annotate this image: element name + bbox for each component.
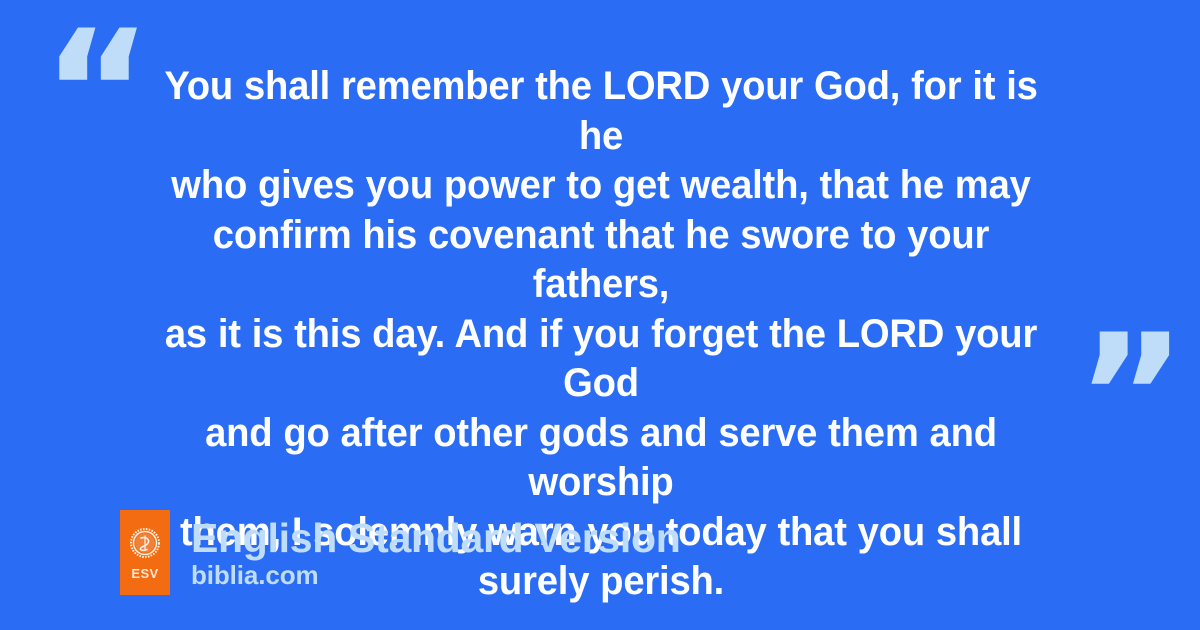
- attribution: ESV English Standard Version biblia.com: [120, 510, 680, 595]
- site-url[interactable]: biblia.com: [191, 561, 680, 590]
- attribution-text: English Standard Version biblia.com: [191, 516, 680, 590]
- esv-logo: ESV: [120, 510, 170, 595]
- esv-logo-label: ESV: [131, 567, 158, 580]
- verse-card: “ You shall remember the LORD your God, …: [0, 0, 1200, 630]
- close-quote-icon: ”: [1076, 312, 1186, 480]
- esv-seal-icon: [130, 528, 160, 558]
- bible-version-name: English Standard Version: [191, 516, 680, 560]
